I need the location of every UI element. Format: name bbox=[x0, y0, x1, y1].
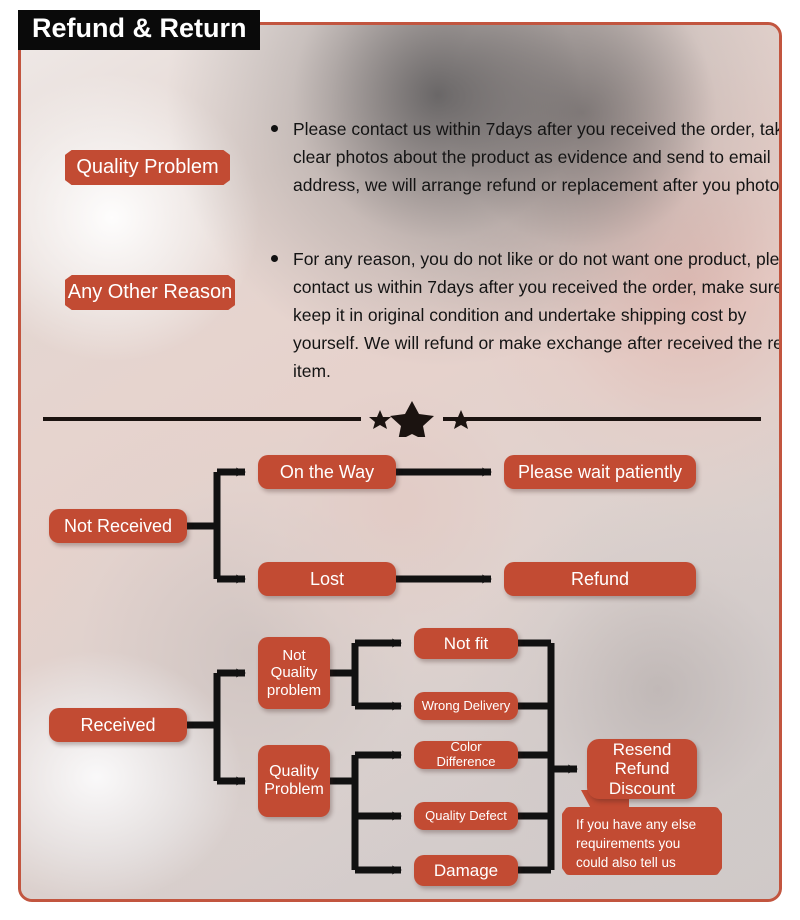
flow-node-label: Quality Defect bbox=[425, 809, 507, 824]
flow-node-not-fit: Not fit bbox=[414, 628, 518, 659]
flow-node-quality-problem: Quality Problem bbox=[258, 745, 330, 817]
page-title: Refund & Return bbox=[18, 10, 260, 50]
flow-node-received: Received bbox=[49, 708, 187, 742]
bullet-dot-icon bbox=[271, 125, 278, 132]
callout-line3: could also tell us bbox=[576, 853, 722, 872]
flow-node-label: Not fit bbox=[444, 634, 488, 653]
flow-node-label-line1: Not bbox=[282, 647, 305, 664]
star-large-center bbox=[390, 401, 434, 437]
callout-line1: If you have any else bbox=[576, 815, 722, 834]
flow-node-label-line1: Quality bbox=[269, 763, 319, 781]
flow-node-label-line2: Refund bbox=[615, 759, 670, 778]
callout-extra-requirements: If you have any else requirements you co… bbox=[562, 807, 722, 875]
flow-node-damage: Damage bbox=[414, 855, 518, 886]
refund-return-infographic: Quality Problem Any Other Reason Please … bbox=[0, 0, 800, 920]
flow-node-wrong-delivery: Wrong Delivery bbox=[414, 692, 518, 720]
flow-node-label-line3: Discount bbox=[609, 779, 675, 798]
page-title-label: Refund & Return bbox=[32, 13, 246, 43]
flow-node-label: Damage bbox=[434, 861, 498, 880]
policy-bullet-any-other-reason: For any reason, you do not like or do no… bbox=[271, 245, 782, 385]
flow-node-not-quality-problem: Not Quality problem bbox=[258, 637, 330, 709]
flow-node-label: Refund bbox=[571, 569, 629, 590]
star-small-right bbox=[450, 410, 472, 429]
flow-node-label: Please wait patiently bbox=[518, 462, 682, 483]
flow-node-label: Wrong Delivery bbox=[422, 699, 511, 714]
flow-node-please-wait-patiently: Please wait patiently bbox=[504, 455, 696, 489]
flow-node-label: Not Received bbox=[64, 516, 172, 537]
flow-node-label: Received bbox=[80, 715, 155, 736]
flow-node-refund: Refund bbox=[504, 562, 696, 596]
callout-line2: requirements you bbox=[576, 834, 722, 853]
flow-node-label-line3: problem bbox=[267, 682, 321, 699]
flow-node-label-line2: Quality bbox=[271, 664, 318, 681]
policy-bullet-text: For any reason, you do not like or do no… bbox=[293, 245, 782, 385]
star-divider bbox=[43, 401, 761, 437]
flow-node-label: Lost bbox=[310, 569, 344, 590]
reason-pill-label: Any Other Reason bbox=[68, 281, 233, 303]
flow-node-not-received: Not Received bbox=[49, 509, 187, 543]
reason-pill-quality-problem: Quality Problem bbox=[65, 150, 230, 185]
star-small-left bbox=[369, 410, 391, 429]
bullet-dot-icon bbox=[271, 255, 278, 262]
flow-node-color-difference: Color Difference bbox=[414, 741, 518, 769]
reason-pill-any-other-reason: Any Other Reason bbox=[65, 275, 235, 310]
flow-node-on-the-way: On the Way bbox=[258, 455, 396, 489]
policy-bullet-quality-problem: Please contact us within 7days after you… bbox=[271, 115, 782, 199]
flow-node-label: On the Way bbox=[280, 462, 374, 483]
flow-node-quality-defect: Quality Defect bbox=[414, 802, 518, 830]
flow-node-label: Color Difference bbox=[420, 740, 512, 770]
flow-node-resend-refund-discount: Resend Refund Discount bbox=[587, 739, 697, 799]
flow-node-lost: Lost bbox=[258, 562, 396, 596]
reason-pill-label: Quality Problem bbox=[76, 156, 218, 178]
flow-node-label-line1: Resend bbox=[613, 740, 672, 759]
policy-bullet-text: Please contact us within 7days after you… bbox=[293, 115, 782, 199]
info-card: Quality Problem Any Other Reason Please … bbox=[18, 22, 782, 902]
flow-node-label-line2: Problem bbox=[264, 781, 324, 799]
